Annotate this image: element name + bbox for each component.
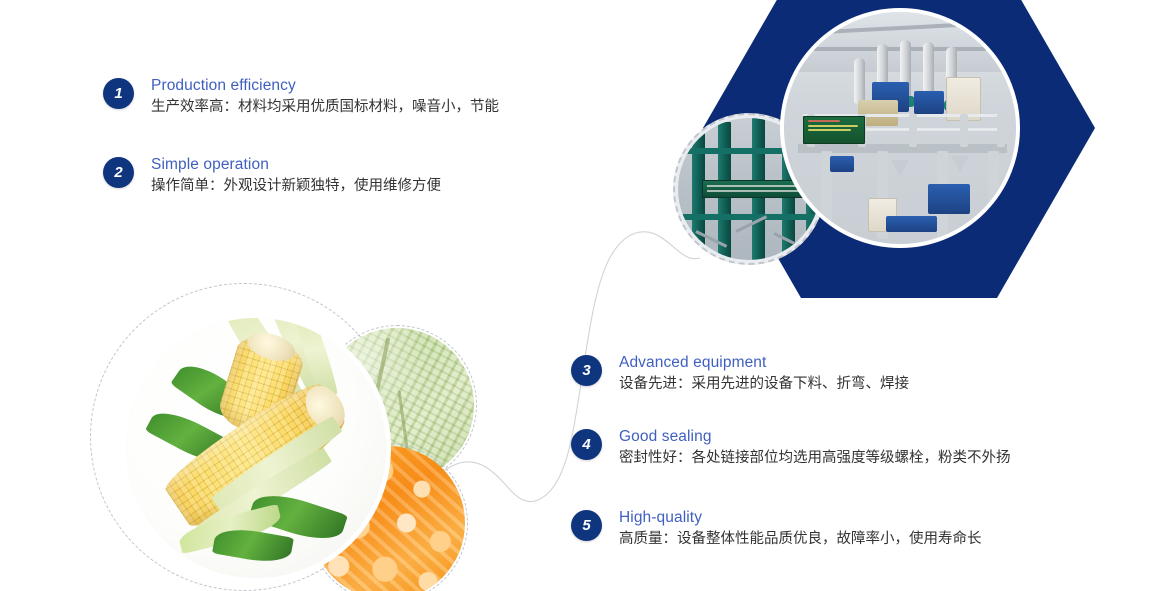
feature-heading-2: Simple operation bbox=[151, 155, 441, 174]
main-mill-photo bbox=[780, 8, 1020, 248]
feature-badge-4: 4 bbox=[571, 429, 602, 460]
feature-item-3: 3 Advanced equipment 设备先进：采用先进的设备下料、折弯、焊… bbox=[571, 353, 909, 396]
feature-heading-5: High-quality bbox=[619, 508, 982, 527]
feature-badge-2: 2 bbox=[103, 157, 134, 188]
feature-badge-5: 5 bbox=[571, 510, 602, 541]
feature-badge-3: 3 bbox=[571, 355, 602, 386]
feature-item-1: 1 Production efficiency 生产效率高：材料均采用优质国标材… bbox=[103, 76, 499, 119]
feature-infographic: 1 Production efficiency 生产效率高：材料均采用优质国标材… bbox=[0, 0, 1154, 591]
feature-heading-3: Advanced equipment bbox=[619, 353, 909, 372]
feature-item-2: 2 Simple operation 操作简单：外观设计新颖独特，使用维修方便 bbox=[103, 155, 441, 198]
flour-milling-plant-photo bbox=[784, 12, 1016, 244]
feature-description-5: 高质量：设备整体性能品质优良，故障率小，使用寿命长 bbox=[619, 529, 982, 551]
feature-description-4: 密封性好：各处链接部位均选用高强度等级螺栓，粉类不外扬 bbox=[619, 448, 1011, 470]
feature-badge-1: 1 bbox=[103, 78, 134, 109]
feature-description-3: 设备先进：采用先进的设备下料、折弯、焊接 bbox=[619, 374, 909, 396]
feature-item-4: 4 Good sealing 密封性好：各处链接部位均选用高强度等级螺栓，粉类不… bbox=[571, 427, 1011, 470]
feature-description-1: 生产效率高：材料均采用优质国标材料，噪音小，节能 bbox=[151, 97, 499, 119]
corn-on-the-cob-photo bbox=[126, 318, 386, 578]
feature-item-5: 5 High-quality 高质量：设备整体性能品质优良，故障率小，使用寿命长 bbox=[571, 508, 982, 551]
feature-heading-1: Production efficiency bbox=[151, 76, 499, 95]
corn-photo-circle bbox=[121, 313, 391, 583]
feature-description-2: 操作简单：外观设计新颖独特，使用维修方便 bbox=[151, 176, 441, 198]
feature-heading-4: Good sealing bbox=[619, 427, 1011, 446]
